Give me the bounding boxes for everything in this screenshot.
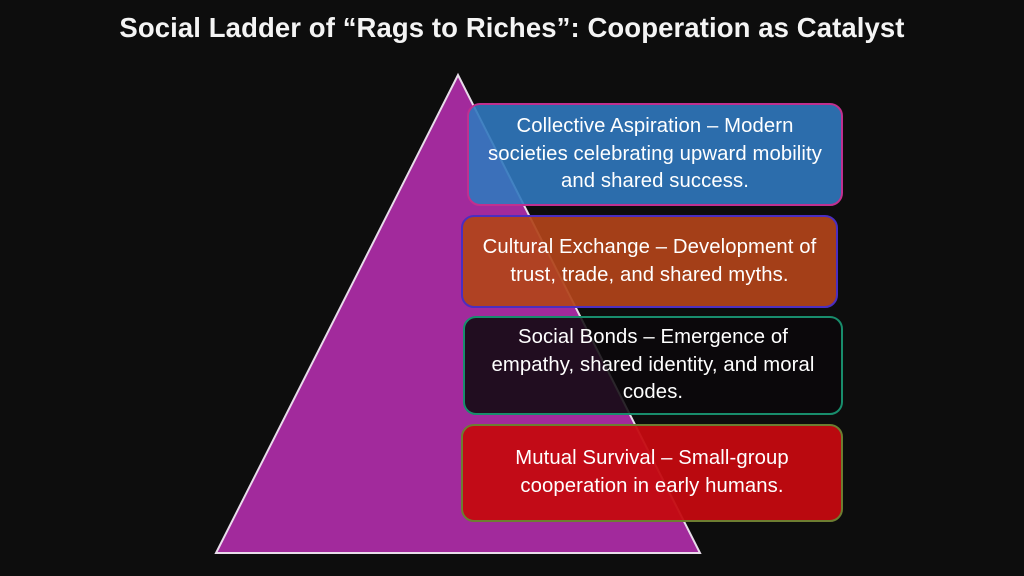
slide-canvas: Social Ladder of “Rags to Riches”: Coope… [0, 0, 1024, 576]
pyramid-level-mutual-survival[interactable]: Mutual Survival – Small-group cooperatio… [461, 424, 843, 522]
pyramid-level-label: Collective Aspiration – Modern societies… [483, 113, 827, 196]
pyramid-level-label: Cultural Exchange – Development of trust… [477, 234, 822, 290]
pyramid-level-social-bonds[interactable]: Social Bonds – Emergence of empathy, sha… [463, 316, 843, 415]
pyramid-level-collective-aspiration[interactable]: Collective Aspiration – Modern societies… [467, 103, 843, 206]
pyramid-level-label: Social Bonds – Emergence of empathy, sha… [479, 324, 827, 407]
pyramid-level-label: Mutual Survival – Small-group cooperatio… [477, 445, 827, 501]
pyramid-level-cultural-exchange[interactable]: Cultural Exchange – Development of trust… [461, 215, 838, 308]
